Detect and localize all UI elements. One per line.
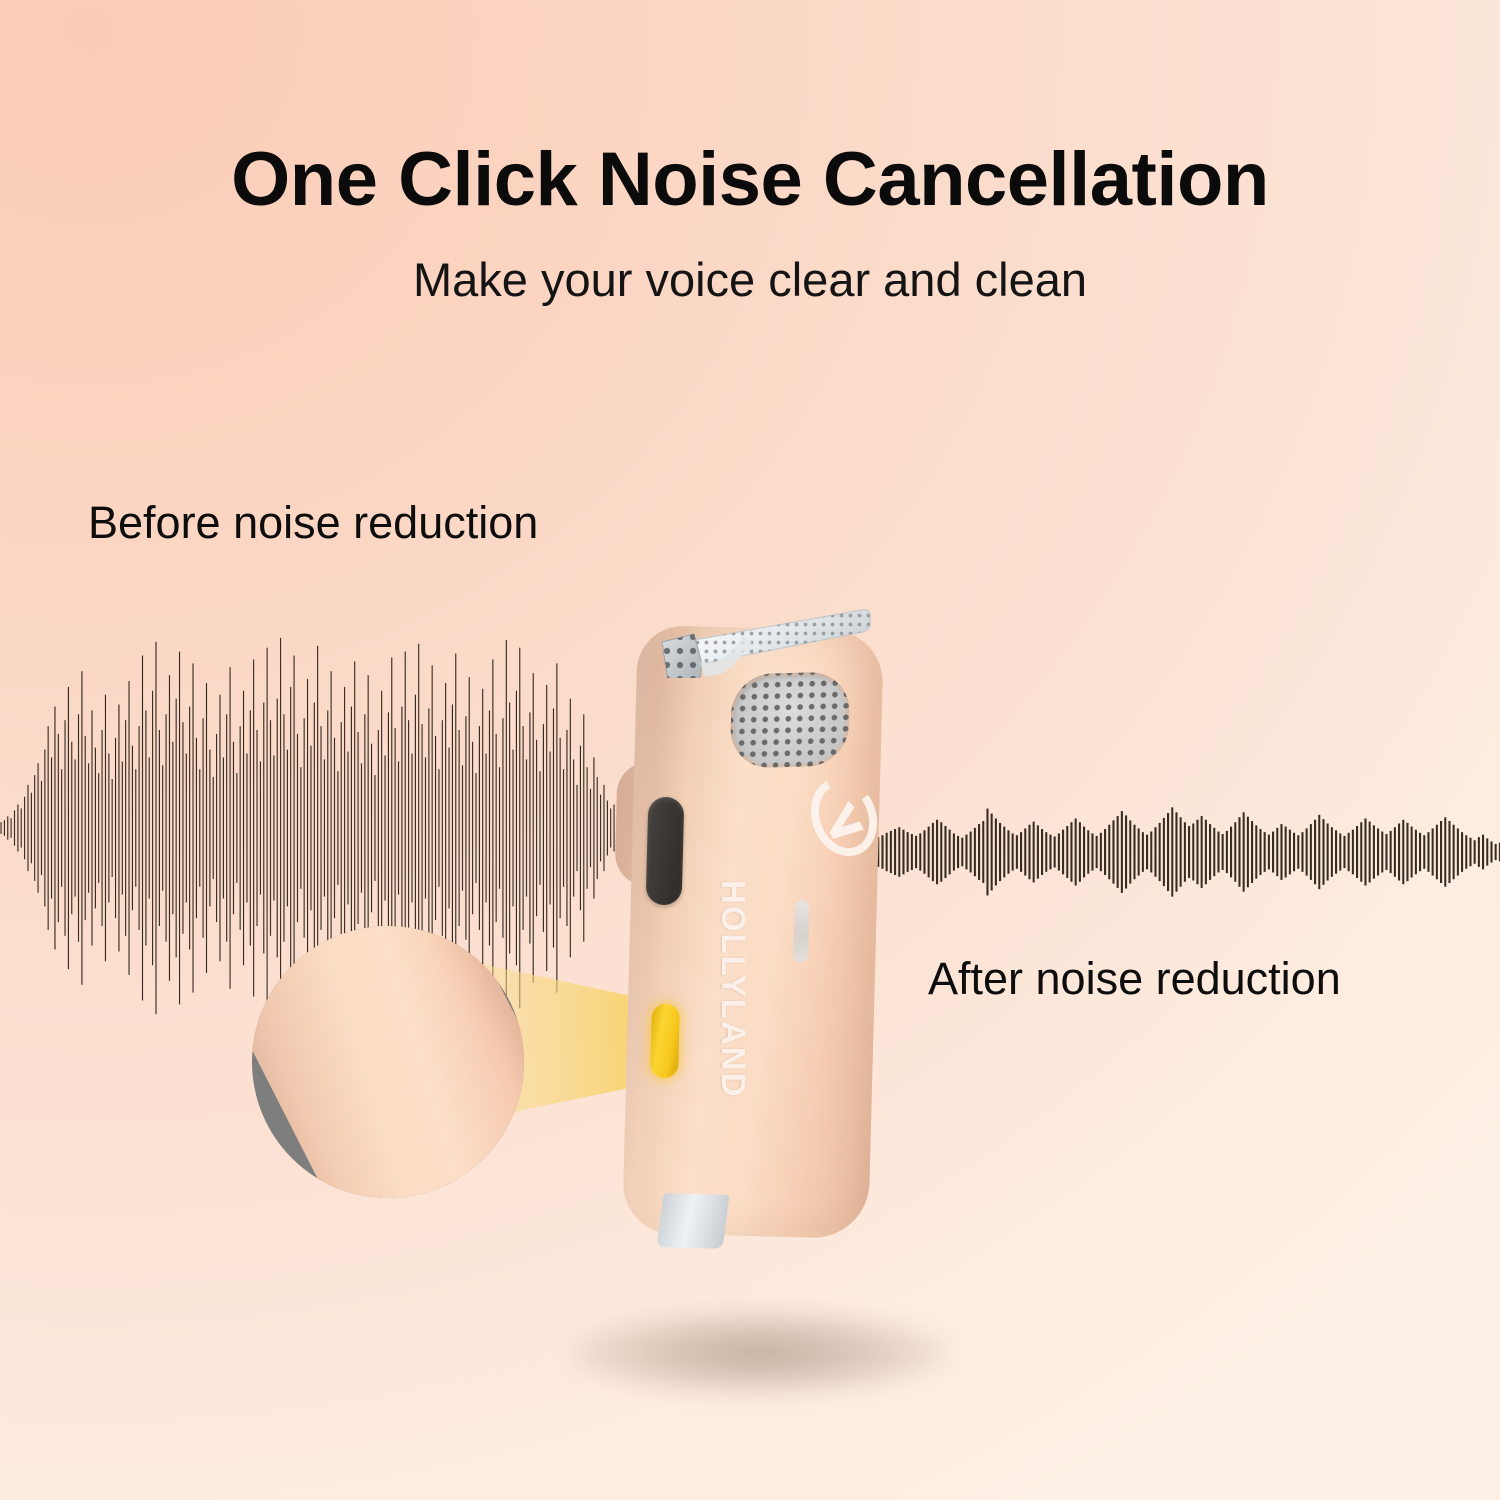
after-noise-reduction-waveform <box>872 757 1500 947</box>
magnified-device-body <box>252 926 524 1198</box>
hollyland-logo-icon <box>807 772 881 862</box>
page-subtitle: Make your voice clear and clean <box>0 252 1500 307</box>
after-noise-reduction-label: After noise reduction <box>928 953 1341 1005</box>
before-noise-reduction-label: Before noise reduction <box>88 497 538 549</box>
hollyland-wordmark: HOLLYLAND <box>714 880 752 1180</box>
mic-grille <box>730 671 851 768</box>
noise-cancel-button-magnifier <box>252 926 524 1198</box>
product-marketing-image: One Click Noise Cancellation Make your v… <box>0 0 1500 1500</box>
microphone-clip <box>648 602 872 678</box>
noise-cancel-button[interactable] <box>650 1004 680 1079</box>
page-title: One Click Noise Cancellation <box>0 140 1500 220</box>
device-drop-shadow <box>570 1310 950 1396</box>
status-led-indicator <box>793 900 810 962</box>
power-button[interactable] <box>646 797 685 906</box>
clip-foot <box>656 1193 729 1249</box>
grille-dot-pattern <box>730 671 851 768</box>
